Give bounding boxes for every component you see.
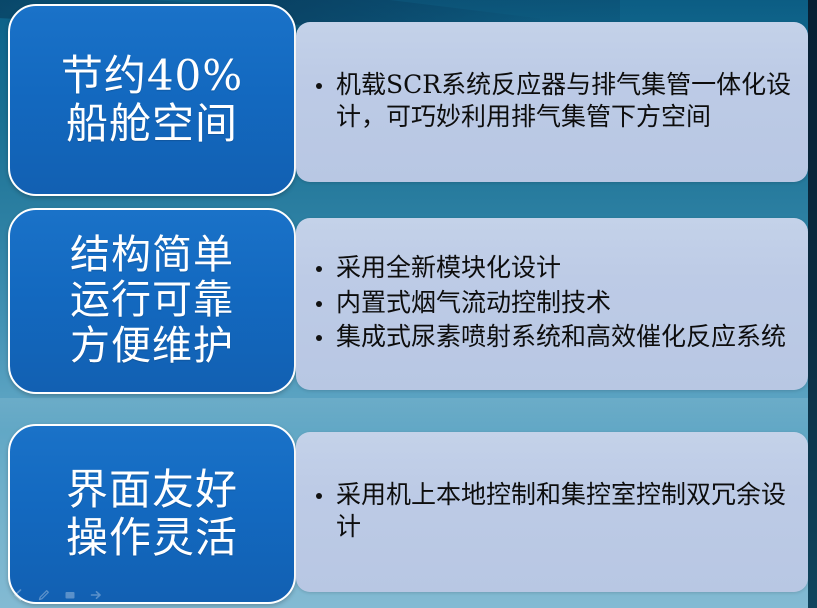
list-item: 集成式尿素喷射系统和高效催化反应系统 [312,321,792,354]
feature-label-box: 结构简单 运行可靠 方便维护 [8,208,296,394]
presentation-slide[interactable]: 节约40% 船舱空间 机载SCR系统反应器与排气集管一体化设计，可巧妙利用排气集… [0,0,817,608]
list-item: 采用机上本地控制和集控室控制双冗余设计 [312,479,792,544]
feature-label-text: 节约40% 船舱空间 [61,52,243,148]
pen-icon[interactable] [36,587,51,602]
feature-detail-panel: 采用全新模块化设计 内置式烟气流动控制技术 集成式尿素喷射系统和高效催化反应系统 [296,218,808,390]
content-row: 界面友好 操作灵活 采用机上本地控制和集控室控制双冗余设计 [0,424,817,604]
content-row: 结构简单 运行可靠 方便维护 采用全新模块化设计 内置式烟气流动控制技术 集成式… [0,208,817,394]
next-slide-icon[interactable] [88,587,103,602]
slideshow-menu-icon[interactable] [62,587,77,602]
feature-label-box: 界面友好 操作灵活 [8,424,296,604]
feature-detail-panel: 采用机上本地控制和集控室控制双冗余设计 [296,432,808,592]
bullet-list: 采用机上本地控制和集控室控制双冗余设计 [312,479,792,546]
bullet-list: 采用全新模块化设计 内置式烟气流动控制技术 集成式尿素喷射系统和高效催化反应系统 [312,252,792,356]
feature-label-text: 结构简单 运行可靠 方便维护 [70,233,234,370]
previous-slide-icon[interactable] [10,587,25,602]
feature-detail-panel: 机载SCR系统反应器与排气集管一体化设计，可巧妙利用排气集管下方空间 [296,22,808,182]
bullet-list: 机载SCR系统反应器与排气集管一体化设计，可巧妙利用排气集管下方空间 [312,69,792,136]
feature-label-text: 界面友好 操作灵活 [66,466,238,562]
slideshow-controls[interactable] [10,587,103,602]
list-item: 采用全新模块化设计 [312,252,792,285]
list-item: 内置式烟气流动控制技术 [312,287,792,320]
content-row: 节约40% 船舱空间 机载SCR系统反应器与排气集管一体化设计，可巧妙利用排气集… [0,4,817,196]
list-item: 机载SCR系统反应器与排气集管一体化设计，可巧妙利用排气集管下方空间 [312,69,792,134]
feature-label-box: 节约40% 船舱空间 [8,4,296,196]
